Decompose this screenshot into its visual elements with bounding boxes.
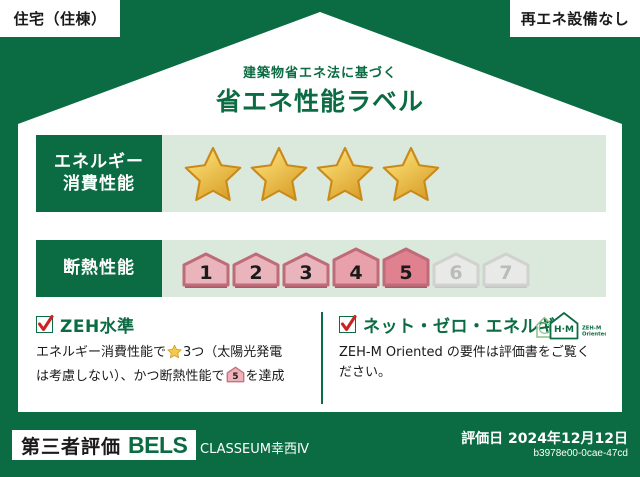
insulation-level-value: 6	[449, 262, 462, 284]
row-energy-label-line2: 消費性能	[63, 174, 135, 195]
note-zeh-body-part1: エネルギー消費性能で	[36, 345, 166, 360]
bels-logo-text: BELS	[128, 432, 187, 459]
note-nze-body: ZEH-M Oriented の要件は評価書をご覧ください。	[339, 343, 594, 383]
note-zeh-body: エネルギー消費性能で 3つ（太陽光発電 は考慮しない）、かつ断熱性能で 5 を達…	[36, 343, 309, 390]
house-icon-inline-value: 5	[232, 372, 238, 382]
label-panel-content: 建築物省エネ法に基づく 省エネ性能ラベル エネルギー 消費性能 断熱性能 123…	[18, 12, 622, 412]
note-zeh-body-part2: は考慮しない）、かつ断熱性能で	[36, 369, 225, 384]
star-filled-icon	[248, 144, 310, 204]
insulation-level-3-active: 3	[282, 252, 330, 291]
star-icon-inline	[167, 344, 182, 366]
building-name: CLASSEUM幸西Ⅳ	[200, 438, 309, 457]
checkbox-net-zero-energy	[339, 316, 356, 333]
check-icon	[36, 314, 55, 335]
row-energy-label-line1: エネルギー	[54, 152, 144, 173]
row-insulation-value: 1234567	[162, 240, 606, 297]
bels-certification-mark: 第三者評価 BELS	[12, 430, 196, 460]
star-filled-icon	[182, 144, 244, 204]
zeh-m-oriented-logo-icon: H·M ZEH-M Oriented	[534, 308, 606, 342]
evaluation-date: 評価日 2024年12月12日	[461, 428, 628, 448]
third-party-eval-label: 第三者評価	[21, 432, 121, 459]
label-subtitle: 建築物省エネ法に基づく	[18, 62, 622, 81]
note-zeh-standard: ZEH水準 エネルギー消費性能で 3つ（太陽光発電 は考慮しない）、かつ断熱性能…	[36, 312, 321, 404]
insulation-level-value: 3	[299, 262, 312, 284]
star-rating	[182, 144, 442, 204]
insulation-level-6-inactive: 6	[432, 252, 480, 291]
zeh-m-logo-text: H·M	[554, 325, 574, 335]
notes-section: ZEH水準 エネルギー消費性能で 3つ（太陽光発電 は考慮しない）、かつ断熱性能…	[36, 312, 606, 404]
insulation-level-4-active: 4	[332, 247, 380, 291]
evaluation-code: b3978e00-0cae-47cd	[533, 448, 628, 459]
insulation-level-1-active: 1	[182, 252, 230, 291]
page-title: 省エネ性能ラベル	[18, 82, 622, 118]
note-zeh-body-part3: を達成	[246, 369, 285, 384]
zeh-m-logo-caption-2: Oriented	[582, 332, 606, 338]
row-energy-label: エネルギー 消費性能	[36, 135, 162, 212]
check-icon	[339, 314, 358, 335]
insulation-level-5-active: 5	[382, 247, 430, 291]
insulation-level-value: 2	[249, 262, 262, 284]
row-insulation-performance: 断熱性能 1234567	[36, 240, 606, 297]
insulation-scale: 1234567	[182, 247, 530, 291]
note-zeh-header: ZEH水準	[36, 312, 309, 337]
checkbox-zeh-standard	[36, 316, 53, 333]
house-icon-inline: 5	[226, 366, 245, 390]
insulation-level-value: 5	[399, 262, 412, 284]
insulation-level-7-inactive: 7	[482, 252, 530, 291]
zeh-m-logo-caption-1: ZEH-M	[582, 326, 601, 332]
footer-bar: 第三者評価 BELS CLASSEUM幸西Ⅳ 評価日 2024年12月12日 b…	[0, 420, 640, 477]
row-energy-value	[162, 135, 606, 212]
note-net-zero-energy: ネット・ゼロ・エネルギー H·M ZEH-M Oriented ZEH-M Or…	[321, 312, 606, 404]
note-zeh-star-count: 3つ（太陽光発電	[183, 345, 282, 360]
note-zeh-title: ZEH水準	[60, 312, 135, 337]
badge-building-type: 住宅（住棟）	[0, 0, 120, 37]
insulation-level-value: 7	[499, 262, 512, 284]
star-filled-icon	[314, 144, 376, 204]
star-filled-icon	[380, 144, 442, 204]
badge-renewable-equipment: 再エネ設備なし	[510, 0, 640, 37]
insulation-level-2-active: 2	[232, 252, 280, 291]
energy-performance-label: 住宅（住棟） 再エネ設備なし 建築物省エネ法に基づく 省エネ性能ラベル エネルギ…	[0, 0, 640, 477]
insulation-level-value: 1	[199, 262, 212, 284]
insulation-level-value: 4	[349, 262, 362, 284]
row-insulation-label: 断熱性能	[36, 240, 162, 297]
row-energy-performance: エネルギー 消費性能	[36, 135, 606, 212]
